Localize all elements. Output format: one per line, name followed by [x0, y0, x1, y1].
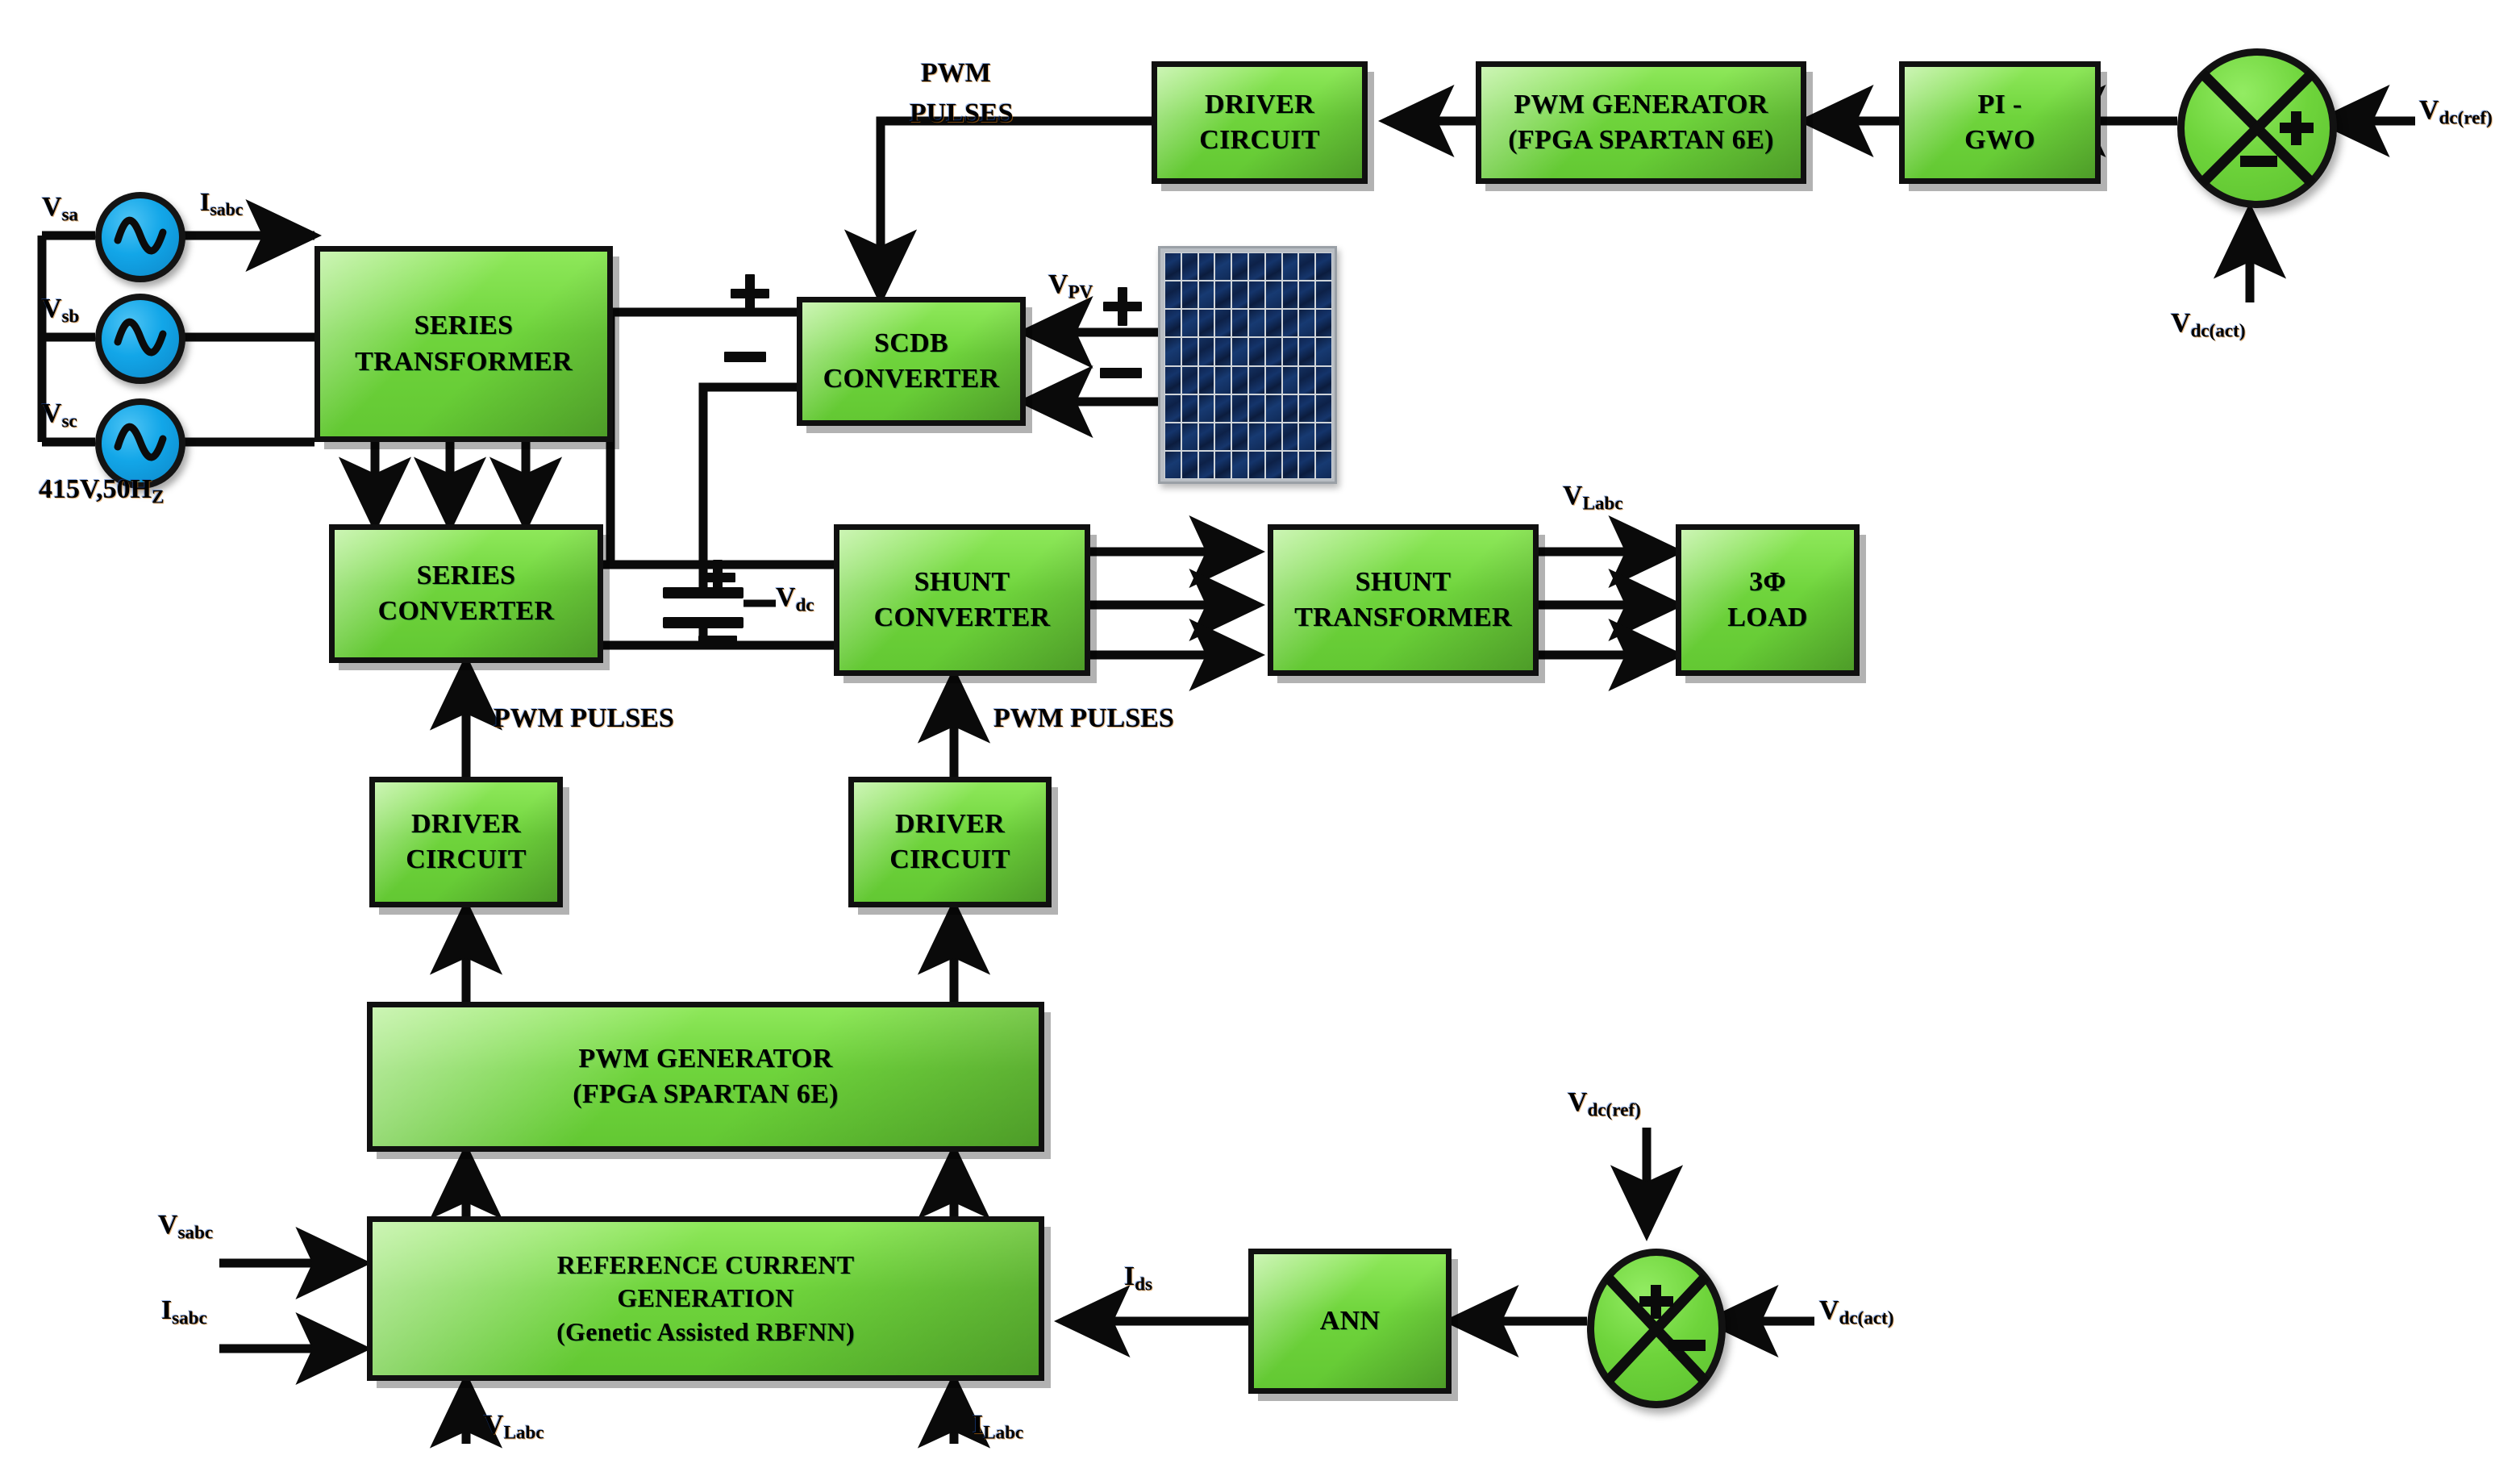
reference-current-line2: GENERATION [617, 1282, 793, 1316]
pi-gwo-line2: GWO [1964, 123, 2035, 158]
block-series-converter[interactable]: SERIES CONVERTER [329, 524, 603, 663]
block-shunt-transformer[interactable]: SHUNT TRANSFORMER [1268, 524, 1539, 676]
reference-current-line3: (Genetic Assisted RBFNN) [556, 1316, 855, 1349]
pwm-pulses-shunt-text: PWM PULSES [993, 703, 1174, 733]
plus-sign-scdb-output [731, 274, 769, 313]
label-pwm-pulses-shunt: PWM PULSES [993, 703, 1174, 734]
shunt-transformer-line2: TRANSFORMER [1294, 600, 1512, 636]
label-v-sa: Vsa [42, 192, 78, 226]
driver-series-line2: CIRCUIT [406, 842, 526, 878]
pwm-gen-top-line1: PWM GENERATOR [1514, 87, 1768, 123]
label-v-sabc-input: Vsabc [158, 1210, 213, 1244]
block-diagram-canvas: SERIES TRANSFORMER SERIES CONVERTER SCDB… [0, 0, 2520, 1472]
pwm-gen-bottom-line2: (FPGA SPARTAN 6E) [573, 1077, 838, 1112]
label-pwm-pulses-top-line2: PULSES [910, 98, 1014, 129]
v-dc-act-bottom-symbol: V [1819, 1295, 1839, 1325]
v-dc-ref-bottom-symbol: V [1568, 1087, 1588, 1117]
v-sb-subscript: sb [62, 306, 80, 327]
three-phase-load-line1: 3Φ [1749, 565, 1786, 600]
scdb-converter-line1: SCDB [874, 326, 948, 361]
v-dc-subscript: dc [796, 594, 814, 615]
pi-gwo-line1: PI - [1977, 87, 2022, 123]
shunt-transformer-line1: SHUNT [1356, 565, 1452, 600]
v-dc-symbol: V [776, 582, 796, 612]
label-v-dc-act-bottom: Vdc(act) [1819, 1295, 1894, 1329]
label-v-labc-input: VLabc [484, 1410, 544, 1444]
i-labc-in-symbol: I [973, 1410, 983, 1440]
pwm-pulses-top-text1: PWM [921, 58, 991, 88]
label-v-dc-ref-bottom: Vdc(ref) [1568, 1087, 1641, 1121]
driver-shunt-line1: DRIVER [895, 807, 1005, 842]
ann-line1: ANN [1320, 1303, 1381, 1339]
v-labc-in-subscript: Labc [504, 1422, 544, 1443]
v-dc-ref-top-symbol: V [2419, 95, 2439, 125]
block-reference-current-generation[interactable]: REFERENCE CURRENT GENERATION (Genetic As… [367, 1216, 1044, 1381]
v-pv-symbol: V [1048, 269, 1068, 299]
ac-source-phase-a [95, 192, 185, 282]
pv-cell-grid [1164, 252, 1332, 479]
block-driver-circuit-top[interactable]: DRIVER CIRCUIT [1152, 61, 1368, 184]
v-pv-subscript: PV [1068, 281, 1093, 302]
minus-sign-scdb-output [724, 352, 766, 362]
supply-rating-subscript: Z [152, 486, 164, 507]
pwm-pulses-series-text: PWM PULSES [494, 703, 674, 733]
v-sb-symbol: V [42, 294, 62, 323]
label-v-dc: Vdc [776, 582, 814, 616]
block-pi-gwo[interactable]: PI - GWO [1899, 61, 2101, 184]
plus-sign-dc-link [700, 560, 735, 595]
v-sc-symbol: V [42, 398, 62, 428]
v-dc-act-bottom-subscript: dc(act) [1839, 1307, 1894, 1328]
driver-series-line1: DRIVER [411, 807, 521, 842]
driver-top-line2: CIRCUIT [1199, 123, 1319, 158]
supply-rating-text: 415V,50H [39, 474, 152, 504]
block-pwm-generator-top[interactable]: PWM GENERATOR (FPGA SPARTAN 6E) [1476, 61, 1806, 184]
driver-shunt-line2: CIRCUIT [889, 842, 1010, 878]
pv-panel [1158, 246, 1337, 484]
block-scdb-converter[interactable]: SCDB CONVERTER [797, 297, 1026, 426]
block-ann[interactable]: ANN [1248, 1249, 1452, 1394]
v-dc-act-top-symbol: V [2171, 308, 2191, 338]
block-shunt-converter[interactable]: SHUNT CONVERTER [834, 524, 1090, 676]
label-i-sabc-top: Isabc [200, 187, 244, 220]
block-series-transformer[interactable]: SERIES TRANSFORMER [314, 246, 613, 442]
reference-current-line1: REFERENCE CURRENT [557, 1249, 855, 1282]
label-i-sabc-input: Isabc [161, 1295, 207, 1329]
i-ds-subscript: ds [1135, 1274, 1152, 1295]
i-sabc-top-symbol: I [200, 187, 210, 216]
i-sabc-in-subscript: sabc [172, 1307, 207, 1328]
plus-sign-pv-positive [1103, 287, 1142, 326]
label-v-dc-act-top: Vdc(act) [2171, 308, 2246, 342]
i-sabc-top-subscript: sabc [210, 200, 243, 219]
three-phase-load-line2: LOAD [1727, 600, 1807, 636]
label-i-ds: Ids [1124, 1261, 1152, 1295]
ac-source-phase-b [95, 294, 185, 384]
label-supply-rating: 415V,50HZ [39, 474, 165, 508]
label-v-sc: Vsc [42, 398, 77, 432]
v-dc-ref-top-subscript: dc(ref) [2439, 107, 2493, 128]
label-v-dc-ref-top: Vdc(ref) [2419, 95, 2493, 129]
v-labc-top-subscript: Labc [1583, 493, 1623, 514]
series-converter-line1: SERIES [417, 558, 516, 594]
i-sabc-in-symbol: I [161, 1295, 172, 1325]
driver-top-line1: DRIVER [1205, 87, 1314, 123]
v-labc-top-symbol: V [1563, 481, 1583, 511]
v-sabc-in-subscript: sabc [178, 1222, 214, 1243]
pwm-gen-bottom-line1: PWM GENERATOR [578, 1041, 832, 1077]
pwm-gen-top-line2: (FPGA SPARTAN 6E) [1508, 123, 1773, 158]
v-sa-subscript: sa [62, 204, 79, 225]
v-dc-act-top-subscript: dc(act) [2191, 320, 2246, 341]
shunt-converter-line2: CONVERTER [874, 600, 1051, 636]
series-transformer-line2: TRANSFORMER [355, 344, 573, 380]
v-sc-subscript: sc [62, 411, 77, 432]
shunt-converter-line1: SHUNT [914, 565, 1010, 600]
block-three-phase-load[interactable]: 3Φ LOAD [1676, 524, 1860, 676]
v-dc-ref-bottom-subscript: dc(ref) [1588, 1099, 1641, 1120]
block-driver-circuit-series[interactable]: DRIVER CIRCUIT [369, 777, 563, 907]
block-driver-circuit-shunt[interactable]: DRIVER CIRCUIT [848, 777, 1052, 907]
i-ds-symbol: I [1124, 1261, 1135, 1291]
summing-junction-top[interactable] [2177, 48, 2337, 208]
minus-sign-pv-negative [1100, 368, 1142, 378]
label-v-sb: Vsb [42, 294, 79, 327]
label-v-labc-top: VLabc [1563, 481, 1623, 515]
scdb-converter-line2: CONVERTER [823, 361, 1000, 397]
label-i-labc-input: ILabc [973, 1410, 1023, 1444]
summing-junction-bottom[interactable] [1587, 1249, 1726, 1408]
minus-sign-dc-link [698, 636, 737, 646]
label-pwm-pulses-top-line1: PWM [921, 58, 991, 89]
block-pwm-generator-bottom[interactable]: PWM GENERATOR (FPGA SPARTAN 6E) [367, 1002, 1044, 1152]
pwm-pulses-top-text2: PULSES [910, 98, 1014, 128]
v-sa-symbol: V [42, 192, 62, 222]
label-v-pv: VPV [1048, 269, 1093, 303]
v-sabc-in-symbol: V [158, 1210, 178, 1240]
v-labc-in-symbol: V [484, 1410, 504, 1440]
i-labc-in-subscript: Labc [983, 1422, 1023, 1443]
series-converter-line2: CONVERTER [378, 594, 555, 629]
label-pwm-pulses-series: PWM PULSES [494, 703, 674, 734]
series-transformer-line1: SERIES [414, 308, 514, 344]
